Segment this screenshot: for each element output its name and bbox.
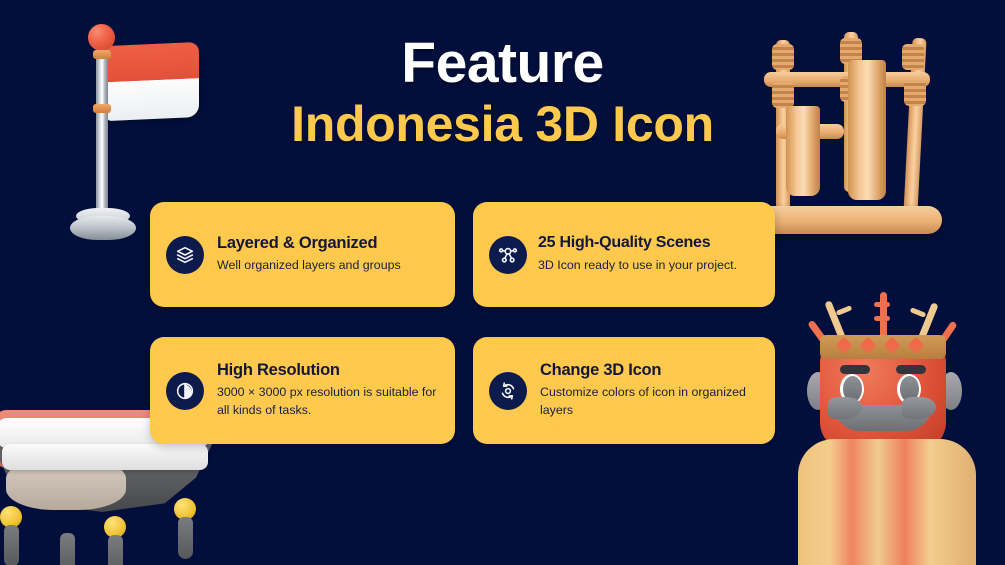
character-eyebrow-left	[840, 365, 870, 374]
hat-tassel	[174, 498, 196, 559]
headdress-leaflet	[910, 307, 927, 318]
hat-tassel	[56, 514, 78, 565]
feature-card-layered-organized[interactable]: Layered & Organized Well organized layer…	[150, 202, 455, 307]
flag-base	[70, 216, 136, 240]
angklung-base-bar	[750, 206, 942, 234]
card-description: Well organized layers and groups	[217, 257, 441, 275]
angklung-instrument-icon	[748, 14, 1005, 249]
headdress-leaflet	[836, 305, 853, 316]
feature-card-high-resolution[interactable]: High Resolution 3000 × 3000 px resolutio…	[150, 337, 455, 444]
card-description: 3D Icon ready to use in your project.	[538, 257, 761, 275]
card-text-block: 25 High-Quality Scenes 3D Icon ready to …	[538, 234, 761, 274]
flag-ring-top	[93, 50, 111, 59]
angklung-binding-1	[772, 44, 794, 70]
angklung-bamboo-tube-small	[786, 106, 820, 196]
layers-icon	[166, 236, 204, 274]
card-description: 3000 × 3000 px resolution is suitable fo…	[217, 384, 441, 420]
card-title: High Resolution	[217, 361, 441, 380]
flag-ring-bottom	[93, 104, 111, 113]
angklung-binding-2	[772, 82, 794, 108]
card-title: Change 3D Icon	[540, 361, 761, 380]
headdress-leaflet	[874, 316, 890, 321]
tassel-tail	[4, 525, 19, 565]
card-text-block: Change 3D Icon Customize colors of icon …	[540, 361, 761, 420]
feature-slide: Feature Indonesia 3D Icon Layered & Orga…	[0, 0, 1005, 565]
ondel-ondel-character-icon	[790, 292, 1005, 565]
tassel-tail	[108, 535, 123, 565]
resolution-contrast-icon	[166, 372, 204, 410]
card-title: 25 High-Quality Scenes	[538, 234, 761, 252]
network-nodes-icon	[489, 236, 527, 274]
hat-white-layer-bottom	[2, 444, 208, 470]
feature-card-high-quality-scenes[interactable]: 25 High-Quality Scenes 3D Icon ready to …	[473, 202, 775, 307]
flag-pole	[96, 42, 108, 234]
headdress-leaflet	[874, 302, 890, 307]
feature-card-change-3d-icon[interactable]: Change 3D Icon Customize colors of icon …	[473, 337, 775, 444]
flag-finial-ball	[88, 24, 115, 51]
card-text-block: Layered & Organized Well organized layer…	[217, 234, 441, 275]
angklung-binding-6	[904, 80, 926, 106]
character-body	[798, 439, 976, 565]
card-text-block: High Resolution 3000 × 3000 px resolutio…	[217, 361, 441, 420]
angklung-bamboo-tube-large	[848, 60, 886, 200]
tassel-tail	[60, 533, 75, 565]
tassel-tail	[178, 517, 193, 559]
flag-cloth	[107, 42, 199, 121]
character-eyebrow-right	[896, 365, 926, 374]
hat-tassel	[104, 516, 126, 565]
card-description: Customize colors of icon in organized la…	[540, 384, 761, 420]
feature-card-grid: Layered & Organized Well organized layer…	[150, 202, 775, 444]
hat-tassel	[0, 506, 22, 565]
rotate-refresh-icon	[489, 372, 527, 410]
card-title: Layered & Organized	[217, 234, 441, 253]
angklung-binding-5	[902, 44, 924, 70]
